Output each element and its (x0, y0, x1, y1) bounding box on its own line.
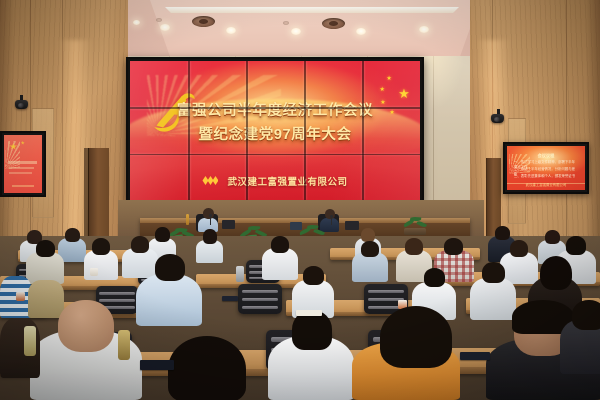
side-slide-title: 会议议程 (538, 153, 555, 159)
ceiling-downlight (160, 24, 170, 31)
led-video-wall[interactable]: ★ ★ ★ ★ ★ 富强公司半年度经济工作会议 暨纪念建党97周年大会 武汉建工… (126, 57, 424, 204)
ceiling-light-strip (162, 7, 462, 13)
ceiling-speaker (192, 16, 215, 27)
laptop (345, 221, 359, 230)
panel-bezel-grid (130, 61, 420, 200)
paper-cup (16, 292, 25, 301)
notebook (460, 352, 490, 360)
right-wall-tv-screen: 会议议程 一、传达学习上级文件精神，部署下半年重点工作 二、总结上半年经营情况，… (507, 146, 585, 190)
thermos (118, 330, 130, 360)
potted-plant (402, 216, 428, 231)
thermos (236, 266, 244, 282)
ceiling-downlight (419, 26, 429, 33)
smoke-detector-icon (283, 21, 289, 25)
ceiling-downlight (291, 28, 301, 35)
left-wall-tv-screen (4, 135, 42, 193)
left-wall-tv[interactable] (0, 131, 46, 197)
wall-camera-icon (15, 100, 28, 109)
ceiling-downlight (356, 28, 366, 35)
paper-cup (90, 268, 98, 276)
microphone-icon (210, 216, 211, 225)
water-bottle (186, 214, 189, 225)
right-wall-tv[interactable]: 会议议程 一、传达学习上级文件精神，部署下半年重点工作 二、总结上半年经营情况，… (503, 142, 589, 194)
wall-camera-icon (491, 114, 504, 123)
side-slide-bullet: 三、表彰先进集体和个人，颁发荣誉证书 (514, 174, 578, 179)
notebook (222, 296, 238, 301)
laptop (222, 220, 235, 229)
smoke-detector-icon (156, 18, 162, 22)
left-door[interactable] (88, 148, 109, 240)
notebook (140, 360, 174, 370)
conference-room-photo: 会议议程 一、传达学习上级文件精神，部署下半年重点工作 二、总结上半年经营情况，… (0, 0, 600, 400)
document (296, 310, 322, 316)
thermos (24, 326, 36, 356)
ceiling-downlight (226, 27, 236, 34)
led-video-wall-screen: ★ ★ ★ ★ ★ 富强公司半年度经济工作会议 暨纪念建党97周年大会 武汉建工… (130, 61, 420, 200)
ceiling-downlight (133, 20, 140, 25)
microphone-icon (331, 217, 332, 225)
ceiling-speaker (322, 18, 345, 29)
chair[interactable] (238, 284, 282, 314)
